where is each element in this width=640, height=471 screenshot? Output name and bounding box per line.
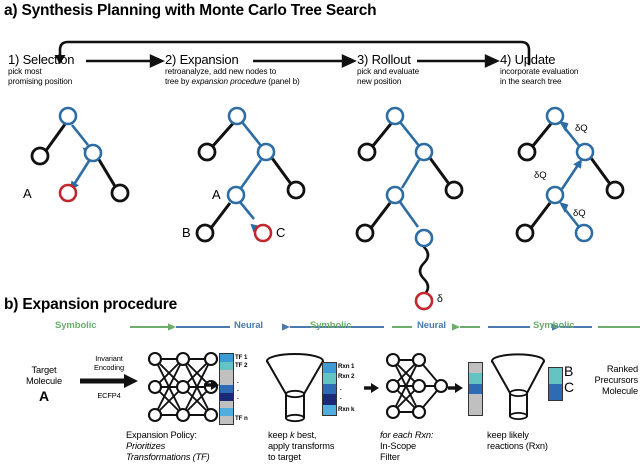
tree-update	[498, 105, 640, 255]
tree-update-label-dq3: δQ	[573, 208, 586, 219]
expansion-policy-caption: Expansion Policy: Prioritizes Transforma…	[126, 430, 256, 463]
band-label-symbolic-3: Symbolic	[533, 320, 574, 331]
tree-update-label-dq2: δQ	[534, 170, 547, 181]
filtered-bar-seg-3	[469, 384, 482, 394]
step-sub-expansion-b: (panel b)	[266, 77, 300, 86]
band-label-symbolic-1: Symbolic	[55, 320, 96, 331]
tf-bar-seg-3	[220, 370, 233, 378]
filtered-bar-seg-2	[469, 373, 482, 383]
encoding-label: Invariant Encoding	[78, 354, 140, 372]
tree-expansion	[178, 105, 338, 245]
tree-update-label-dq1: δQ	[575, 123, 588, 134]
step-sub-expansion-italic: expansion procedure	[192, 77, 267, 86]
rxn-bar-dot-1: .	[340, 385, 342, 392]
target-molecule-label: Target Molecule	[8, 365, 80, 387]
step-sub-expansion-a: tree by	[165, 77, 192, 86]
funnel1-caption: keep k best, apply transforms to target	[268, 430, 378, 463]
encoding-arrow	[78, 373, 142, 389]
filtered-rxn-bar	[468, 362, 483, 416]
band-label-neural-2: Neural	[417, 320, 446, 331]
tree-selection-label-A: A	[23, 186, 32, 201]
tree-rollout-label-delta: δ	[437, 293, 443, 305]
funnel-keep-k-best-icon	[264, 352, 326, 424]
rxn-bar-seg-4	[323, 394, 336, 404]
tf-bar-dot-1: .	[237, 378, 239, 385]
filtered-bar-seg-1	[469, 363, 482, 373]
funnel-keep-likely-reactions-icon	[489, 352, 547, 422]
tree-expansion-label-C: C	[276, 225, 285, 240]
rxn-bar-seg-5	[323, 405, 336, 415]
tf-bar-seg-5	[220, 385, 233, 393]
panel-b-title: b) Expansion procedure	[4, 296, 177, 314]
rxn-bar	[322, 362, 337, 416]
rxn-bar-seg-3	[323, 384, 336, 394]
ranked-precursors-caption: Ranked Precursors Molecule	[560, 364, 638, 397]
filtered-bar-seg-5	[469, 405, 482, 415]
tf-bar-seg-6	[220, 393, 233, 401]
rxn-bar-seg-1	[323, 363, 336, 373]
rxn-bar-label-k: Rxn k	[338, 406, 354, 413]
tf-bar-label-n: TF n	[235, 415, 248, 422]
encoding-fingerprint-label: ECFP4	[80, 391, 138, 400]
tf-bar-dot-3: .	[237, 394, 239, 401]
tf-bar-seg-7	[220, 401, 233, 409]
tf-bar-dot-2: .	[237, 386, 239, 393]
in-scope-filter-caption: for each Rxn: In-Scope Filter	[380, 430, 475, 463]
rxn-bar-label-1: Rxn 1	[338, 363, 354, 370]
band-label-neural-1: Neural	[234, 320, 263, 331]
tf-bar-label-2: TF 2	[235, 362, 247, 369]
tf-bar-seg-9	[220, 416, 233, 424]
tf-bar-seg-8	[220, 408, 233, 416]
step-connector-arrows	[0, 52, 640, 72]
rxn-bar-seg-2	[323, 373, 336, 383]
tree-rollout	[338, 105, 498, 310]
tf-bar-seg-4	[220, 377, 233, 385]
rxn-bar-label-2: Rxn 2	[338, 373, 354, 380]
filtered-bar-seg-4	[469, 394, 482, 404]
in-scope-filter-network	[385, 352, 447, 420]
tf-bar-seg-2	[220, 362, 233, 370]
tree-expansion-label-B: B	[182, 225, 191, 240]
band-label-symbolic-2: Symbolic	[310, 320, 351, 331]
arrow-to-filtered-bar	[447, 381, 465, 395]
tree-selection	[20, 105, 170, 215]
tree-expansion-label-A: A	[212, 187, 221, 202]
tf-bar	[219, 353, 234, 425]
tf-bar-label-1: TF 1	[235, 354, 247, 361]
funnel2-caption: keep likely reactions (Rxn)	[487, 430, 597, 452]
rxn-bar-dot-2: .	[340, 394, 342, 401]
target-molecule-letter: A	[8, 388, 80, 404]
tf-bar-seg-1	[220, 354, 233, 362]
arrow-to-in-scope-filter	[363, 381, 381, 395]
